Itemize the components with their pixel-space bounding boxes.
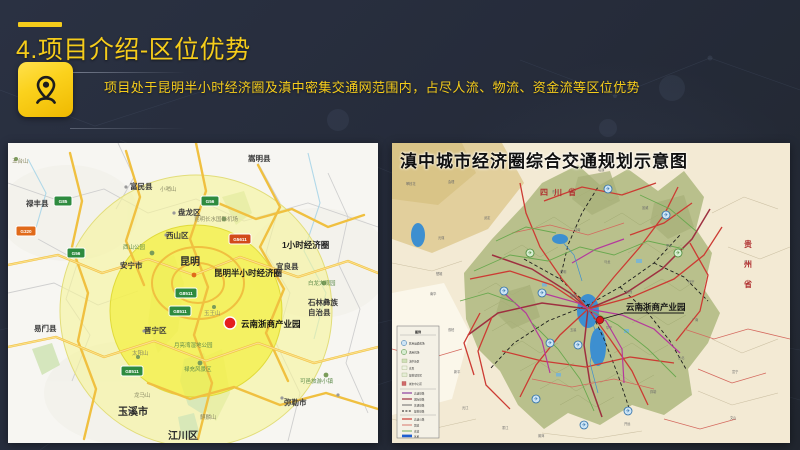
svg-text:楚雄: 楚雄: [436, 271, 443, 276]
svg-text:省: 省: [743, 279, 754, 289]
location-pin-person-icon: [18, 62, 73, 117]
svg-text:✈: ✈: [664, 213, 668, 219]
svg-text:师宗: 师宗: [688, 279, 694, 284]
svg-text:昆明: 昆明: [570, 293, 576, 298]
svg-text:小哨山: 小哨山: [160, 185, 177, 193]
svg-text:贵: 贵: [744, 239, 754, 249]
svg-text:省界: 省界: [409, 366, 415, 370]
svg-text:G56: G56: [206, 199, 215, 204]
svg-text:城市中心区: 城市中心区: [409, 382, 422, 386]
svg-text:宣威: 宣威: [642, 205, 649, 210]
map-legend: 图例 民用运输机场 通用机场 滇中新区 省界 规划城市区 城市中心区 高速铁路 …: [397, 326, 439, 438]
svg-text:富民县: 富民县: [130, 181, 153, 191]
svg-text:嵩明县: 嵩明县: [248, 153, 271, 163]
svg-text:高速公路: 高速公路: [414, 417, 425, 421]
svg-text:省道: 省道: [414, 429, 420, 433]
svg-text:华宁: 华宁: [606, 325, 612, 330]
svg-text:会理: 会理: [448, 179, 455, 184]
svg-text:G8511: G8511: [125, 369, 139, 374]
svg-text:G5611: G5611: [233, 237, 247, 242]
svg-text:龙马山: 龙马山: [134, 391, 151, 399]
svg-text:州: 州: [743, 260, 754, 269]
svg-text:玉溪: 玉溪: [570, 327, 577, 332]
zone-label-one-hour: 1小时经济圈: [282, 240, 329, 250]
svg-text:富宁: 富宁: [732, 369, 738, 374]
svg-text:墨江: 墨江: [502, 425, 509, 430]
svg-text:月亮湾湿地公园: 月亮湾湿地公园: [174, 341, 213, 349]
svg-text:✈: ✈: [534, 397, 538, 403]
svg-text:弥勒市: 弥勒市: [284, 397, 307, 407]
svg-text:五台山: 五台山: [12, 157, 29, 165]
svg-text:禄丰县: 禄丰县: [25, 198, 49, 208]
svg-text:盘龙区: 盘龙区: [178, 207, 201, 217]
svg-text:晋宁区: 晋宁区: [144, 325, 167, 335]
right-map-title: 滇中城市经济圈综合交通规划示意图: [400, 147, 688, 172]
slide-header: 4.项目介绍-区位优势 项目处于昆明半小时经济圈及滇中密集交通网范围内，占尽人流…: [0, 0, 800, 135]
svg-text:通用机场: 通用机场: [409, 350, 420, 354]
svg-text:G56: G56: [72, 251, 81, 256]
svg-text:石林彝族: 石林彝族: [307, 297, 338, 307]
title-accent-bar: [18, 22, 62, 27]
svg-text:云南浙商产业园: 云南浙商产业园: [626, 302, 686, 312]
svg-text:普洱: 普洱: [538, 433, 545, 438]
svg-text:规划城市区: 规划城市区: [409, 373, 422, 377]
svg-text:江川区: 江川区: [168, 429, 198, 442]
svg-text:G8511: G8511: [179, 291, 193, 296]
svg-text:马龙: 马龙: [604, 259, 611, 264]
svg-text:西山公园: 西山公园: [123, 243, 146, 251]
svg-text:✈: ✈: [606, 187, 610, 193]
svg-text:开远: 开远: [624, 421, 631, 426]
svg-text:白龙大观园: 白龙大观园: [308, 279, 336, 287]
svg-text:✈: ✈: [576, 343, 580, 349]
svg-text:✈: ✈: [540, 291, 544, 297]
page-title: 4.项目介绍-区位优势: [16, 30, 251, 66]
svg-text:可邑旅游小镇: 可邑旅游小镇: [300, 377, 334, 385]
right-map-panel[interactable]: ✈ ✈ ✈ ✈ ✈ ✈ ✈ ✈ ✈ ✈ ✈ 攀枝花会理 元谋武定 楚雄南华: [392, 143, 790, 443]
svg-text:武定: 武定: [484, 215, 491, 220]
svg-text:弥勒: 弥勒: [650, 389, 656, 394]
svg-text:✈: ✈: [548, 341, 552, 347]
svg-text:✈: ✈: [502, 289, 506, 295]
svg-text:玉溪市: 玉溪市: [118, 405, 148, 418]
svg-text:✈: ✈: [582, 423, 586, 429]
svg-text:安宁市: 安宁市: [120, 260, 143, 270]
left-map-panel[interactable]: G85 G56 G320 G56: [8, 143, 378, 443]
svg-text:双柏: 双柏: [448, 327, 454, 332]
svg-text:G85: G85: [59, 199, 68, 204]
svg-text:罗平: 罗平: [666, 244, 673, 248]
page-subtitle: 项目处于昆明半小时经济圈及滇中密集交通网范围内，占尽人流、物流、资金流等区位优势: [104, 78, 640, 97]
kunming-economic-circle-map[interactable]: G85 G56 G320 G56: [8, 143, 378, 443]
svg-text:✈: ✈: [528, 251, 532, 257]
svg-text:昆明长水国际机场: 昆明长水国际机场: [194, 215, 239, 223]
svg-text:国道: 国道: [414, 423, 420, 427]
svg-text:城际铁路: 城际铁路: [414, 397, 425, 401]
svg-text:广南: 广南: [692, 317, 698, 322]
svg-text:普通铁路: 普通铁路: [414, 403, 425, 407]
province-label-guizhou: 贵 州 省: [743, 239, 754, 289]
zone-label-half-hour: 昆明半小时经济圈: [214, 268, 282, 278]
svg-text:玉王山: 玉王山: [204, 309, 221, 317]
slide-root: 4.项目介绍-区位优势 项目处于昆明半小时经济圈及滇中密集交通网范围内，占尽人流…: [0, 0, 800, 450]
svg-text:攀枝花: 攀枝花: [406, 181, 416, 186]
svg-text:滇中新区: 滇中新区: [409, 359, 420, 363]
svg-text:嵩明: 嵩明: [560, 269, 566, 274]
svg-text:太阳山: 太阳山: [132, 349, 149, 357]
svg-text:南华: 南华: [430, 291, 437, 296]
svg-text:易门县: 易门县: [34, 323, 57, 333]
svg-text:陆良: 陆良: [626, 289, 633, 294]
dianzhong-transport-plan-map[interactable]: ✈ ✈ ✈ ✈ ✈ ✈ ✈ ✈ ✈ ✈ ✈ 攀枝花会理 元谋武定 楚雄南华: [392, 143, 790, 443]
svg-text:西山区: 西山区: [166, 230, 189, 240]
province-label-sichuan: 四 川 省: [540, 187, 578, 197]
subtitle-divider: [70, 128, 185, 129]
svg-text:✈: ✈: [626, 409, 630, 415]
svg-text:G8511: G8511: [173, 309, 187, 314]
svg-text:寻甸: 寻甸: [574, 227, 580, 232]
svg-text:规划铁路: 规划铁路: [414, 409, 425, 413]
svg-text:✈: ✈: [676, 251, 680, 257]
svg-text:文山: 文山: [730, 415, 736, 420]
svg-text:民用运输机场: 民用运输机场: [409, 341, 425, 345]
svg-text:禄充风景区: 禄充风景区: [184, 365, 212, 373]
svg-text:丘北: 丘北: [678, 355, 685, 360]
svg-text:水系: 水系: [414, 434, 420, 438]
svg-text:自治县: 自治县: [308, 307, 331, 317]
svg-text:昆明: 昆明: [180, 256, 200, 268]
title-divider: [70, 72, 185, 73]
location-pin-person-glyph: [29, 73, 63, 107]
svg-text:图例: 图例: [415, 329, 421, 334]
svg-text:新平: 新平: [454, 369, 461, 374]
svg-text:云南浙商产业园: 云南浙商产业园: [241, 319, 301, 329]
svg-text:麒麟山: 麒麟山: [200, 413, 217, 421]
svg-text:G320: G320: [20, 229, 32, 234]
svg-text:元江: 元江: [462, 405, 469, 410]
svg-text:元谋: 元谋: [438, 235, 445, 240]
svg-text:高速铁路: 高速铁路: [414, 391, 425, 395]
